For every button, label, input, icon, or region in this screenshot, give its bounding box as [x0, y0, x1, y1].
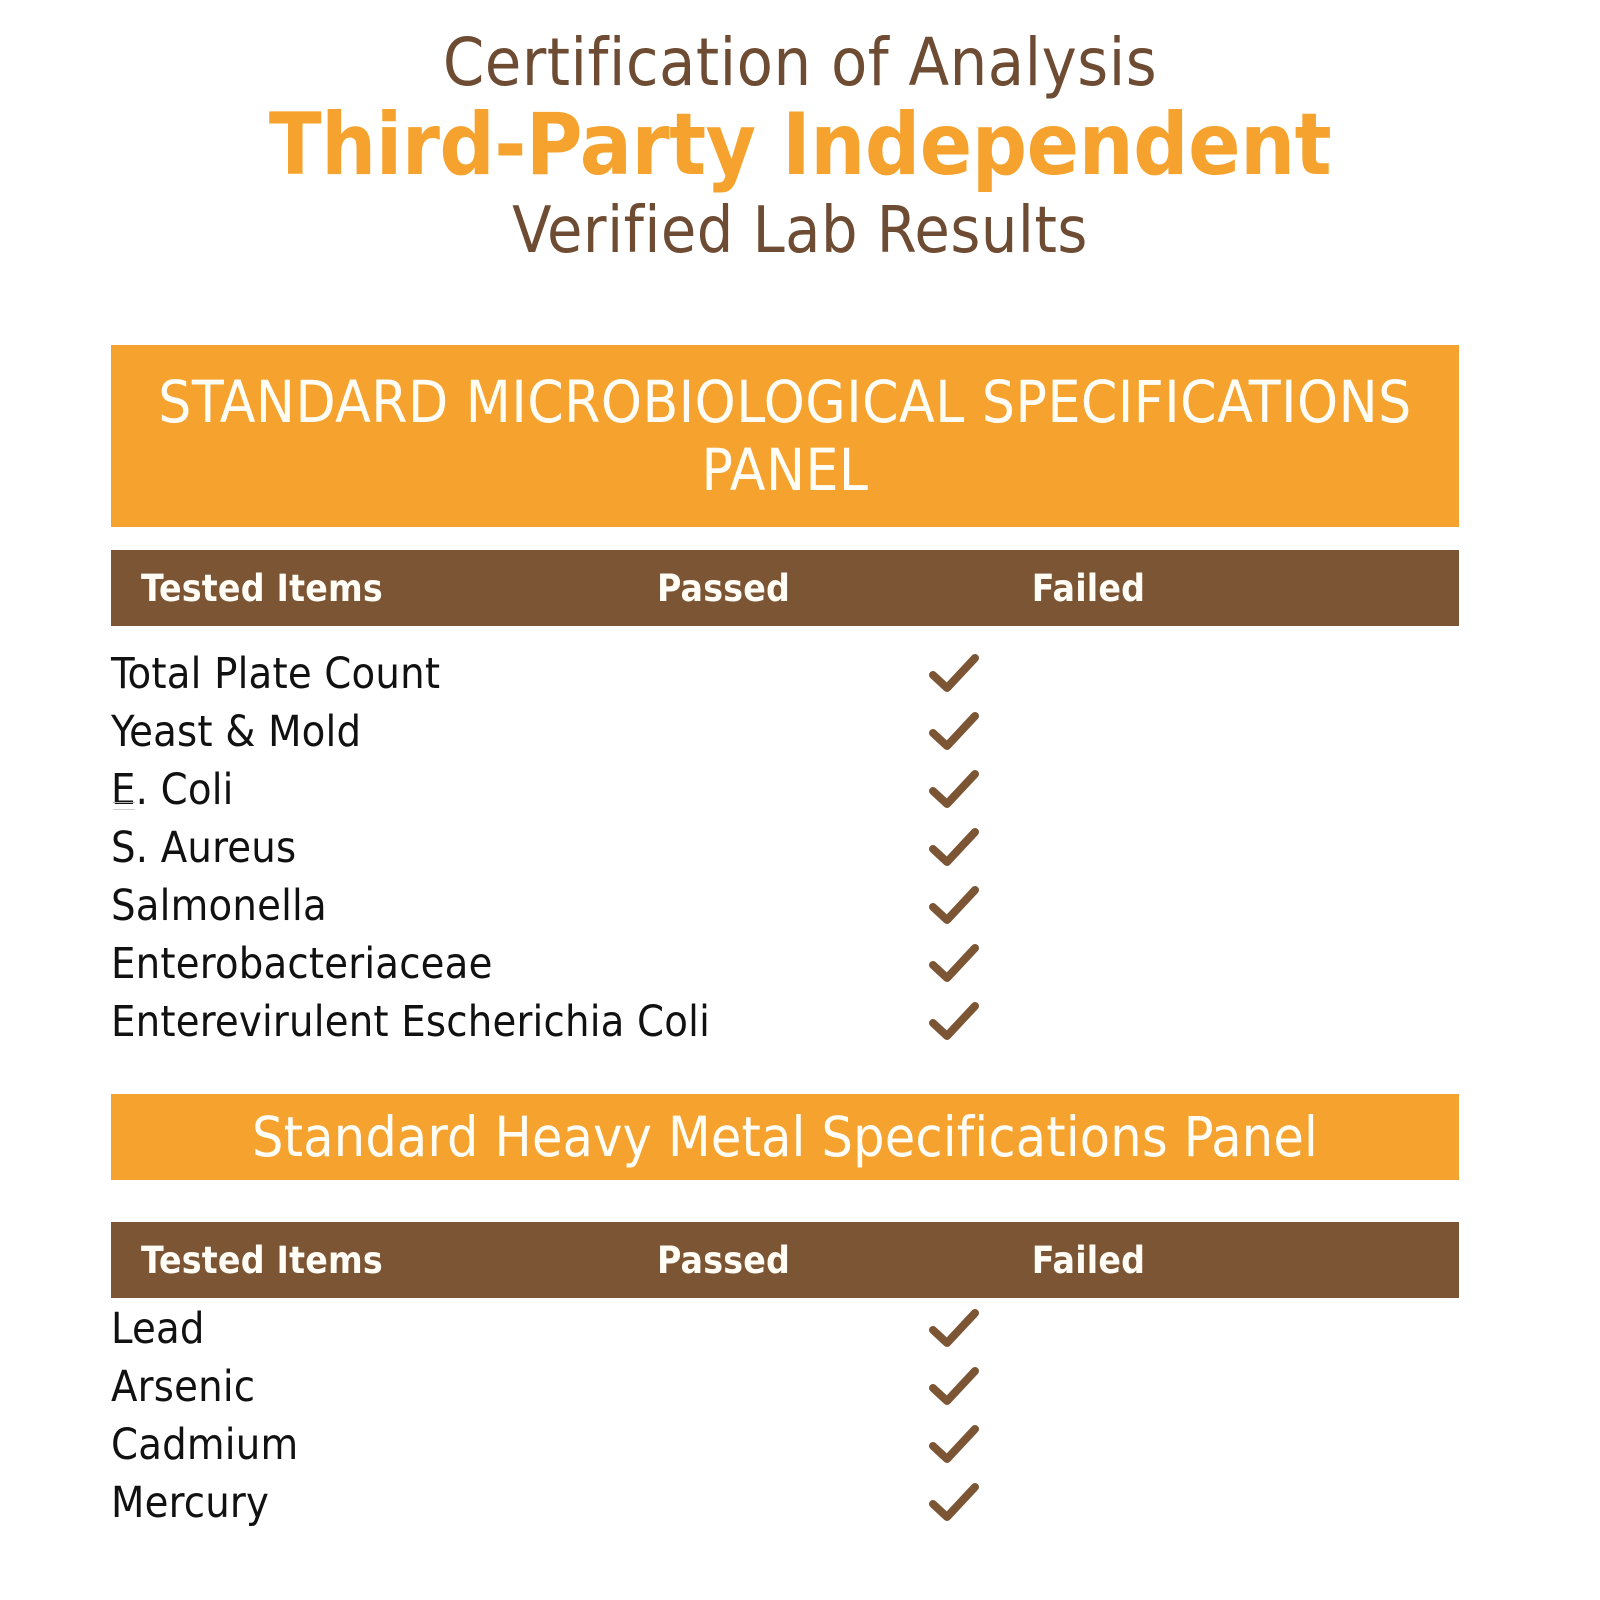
title-line-verified-lab-results: Verified Lab Results: [0, 194, 1600, 270]
table-row: Cadmium: [111, 1416, 1459, 1474]
table-row: E. Coli: [111, 761, 1459, 819]
document-title-block: Certification of Analysis Third-Party In…: [0, 28, 1600, 269]
table-row: Lead: [111, 1300, 1459, 1358]
checkmark-icon: [928, 653, 980, 695]
passed-cell: [111, 1300, 1600, 1358]
section-banner-heavy-metal: Standard Heavy Metal Specifications Pane…: [111, 1094, 1459, 1180]
table-row: Mercury: [111, 1474, 1459, 1532]
passed-cell: [111, 761, 1600, 819]
table-header-heavy-metal: Tested Items Passed Failed: [111, 1222, 1459, 1298]
checkmark-icon: [928, 827, 980, 869]
passed-cell: [111, 1474, 1600, 1532]
passed-cell: [111, 935, 1600, 993]
checkmark-icon: [928, 769, 980, 811]
coa-document: Certification of Analysis Third-Party In…: [0, 0, 1600, 1600]
table-row: Enterevirulent Escherichia Coli: [111, 993, 1459, 1051]
passed-cell: [111, 645, 1600, 703]
table-row: Total Plate Count: [111, 645, 1459, 703]
title-line-third-party: Third-Party Independent: [0, 97, 1600, 193]
passed-cell: [111, 819, 1600, 877]
passed-cell: [111, 1358, 1600, 1416]
checkmark-icon: [928, 1308, 980, 1350]
table-row: Enterobacteriaceae: [111, 935, 1459, 993]
table-body-heavy-metal: Lead Arsenic Cadmium: [111, 1300, 1459, 1532]
passed-cell: [111, 703, 1600, 761]
checkmark-icon: [928, 1001, 980, 1043]
passed-cell: [111, 877, 1600, 935]
table-row: S. Aureus: [111, 819, 1459, 877]
checkmark-icon: [928, 1424, 980, 1466]
checkmark-icon: [928, 1366, 980, 1408]
table-row: Yeast & Mold: [111, 703, 1459, 761]
checkmark-icon: [928, 885, 980, 927]
checkmark-icon: [928, 943, 980, 985]
table-header-microbiological: Tested Items Passed Failed: [111, 550, 1459, 626]
table-row: Arsenic: [111, 1358, 1459, 1416]
passed-cell: [111, 1416, 1600, 1474]
checkmark-icon: [928, 711, 980, 753]
column-header-failed: Failed: [111, 1222, 1600, 1298]
title-line-certification: Certification of Analysis: [0, 28, 1600, 97]
passed-cell: [111, 993, 1600, 1051]
section-banner-microbiological: STANDARD MICROBIOLOGICAL SPECIFICATIONS …: [111, 345, 1459, 527]
column-header-failed: Failed: [111, 550, 1600, 626]
table-row: Salmonella: [111, 877, 1459, 935]
checkmark-icon: [928, 1482, 980, 1524]
table-body-microbiological: Total Plate Count Yeast & Mold E. Coli: [111, 645, 1459, 1051]
